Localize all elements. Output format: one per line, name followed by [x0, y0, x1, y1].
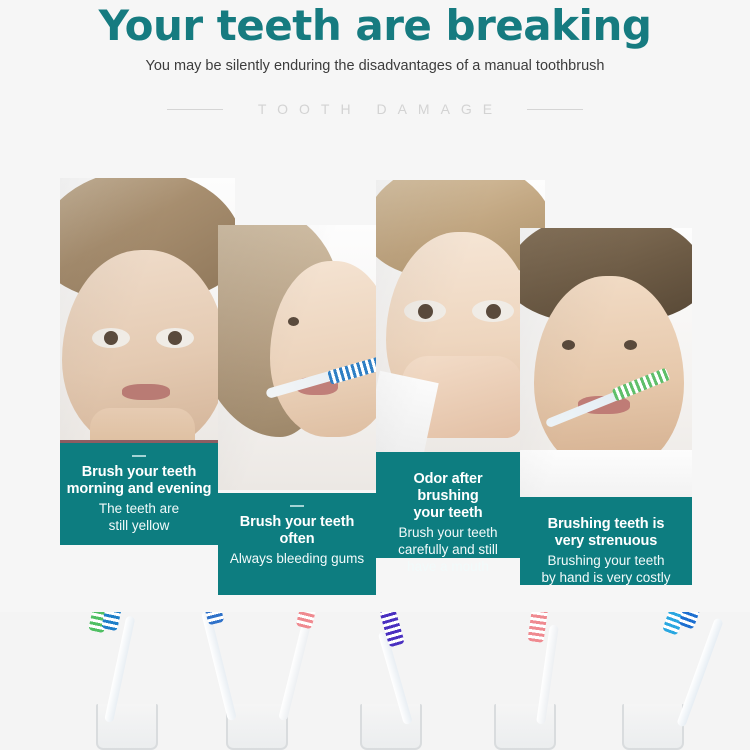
toothbrush-blue-bristles-b [678, 612, 706, 630]
promo-page: Your teeth are breaking You may be silen… [0, 0, 750, 750]
glass-2 [226, 704, 288, 750]
caption-tick-icon [132, 455, 146, 457]
caption-title: Brushing teeth is very strenuous [542, 516, 671, 550]
toothbrush-red-bristles [296, 612, 321, 629]
photo-man-brushing [520, 228, 692, 500]
toothbrush-blue-handle [201, 612, 237, 721]
toothbrush-strip [0, 612, 750, 750]
caption-subtitle: Brushing your teeth by hand is very cost… [535, 552, 676, 586]
toothbrush-blue-bristles-a [101, 612, 125, 631]
photo-woman-brushing [218, 225, 393, 490]
caption-title: Brush your teeth often [218, 514, 376, 548]
photo-shading [60, 178, 235, 446]
caption-subtitle: Always bleeding gums [224, 550, 370, 567]
caption-panel-2: Brush your teeth often Always bleeding g… [218, 493, 376, 595]
caption-subtitle: Brush your teeth carefully and still hav… [392, 524, 504, 575]
glass-3 [360, 704, 422, 750]
photo-collage: Brush your teeth morning and evening The… [0, 0, 750, 620]
photo-shading [218, 225, 393, 490]
caption-panel-4: Brushing teeth is very strenuous Brushin… [520, 497, 692, 585]
caption-tick-icon [290, 505, 304, 507]
toothbrush-red-handle [278, 614, 313, 721]
caption-title: Brush your teeth morning and evening [61, 464, 218, 498]
toothbrush-pink-bristles [527, 612, 548, 643]
photo-worried-woman [60, 178, 235, 446]
caption-subtitle: The teeth are still yellow [93, 500, 185, 534]
caption-panel-1: Brush your teeth morning and evening The… [60, 443, 218, 545]
caption-title: Odor after brushing your teeth [376, 471, 520, 522]
glass-5 [622, 704, 684, 750]
photo-shading [520, 228, 692, 500]
toothbrush-cyan-handle [676, 617, 723, 727]
caption-panel-3: Odor after brushing your teeth Brush you… [376, 452, 520, 558]
